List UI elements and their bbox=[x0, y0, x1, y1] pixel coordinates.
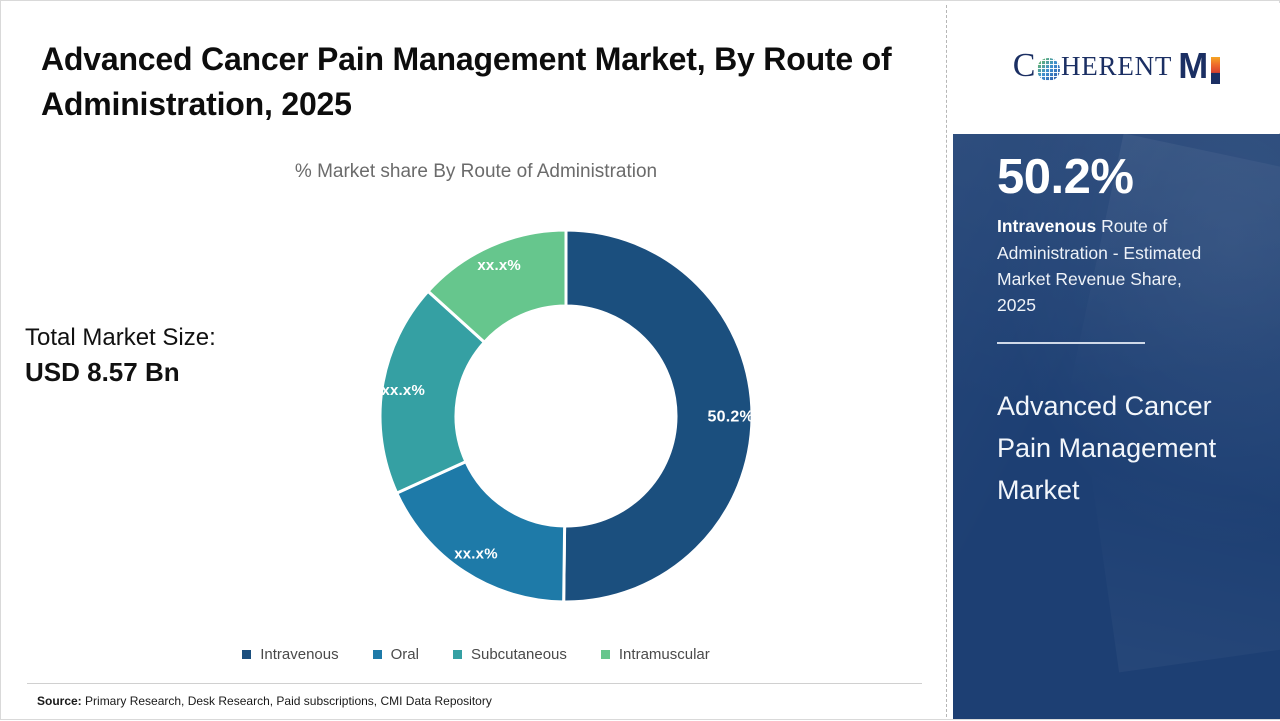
donut-slice-label: 50.2% bbox=[708, 409, 754, 426]
donut-chart-svg: 50.2%xx.x%xx.x%xx.x% bbox=[376, 226, 756, 606]
logo-text-herent: HERENT bbox=[1061, 53, 1172, 80]
source-note: Source: Primary Research, Desk Research,… bbox=[37, 694, 492, 708]
legend-swatch-icon bbox=[242, 650, 251, 659]
source-divider bbox=[27, 683, 922, 684]
coherentmi-logo: C HERENT M bbox=[1013, 48, 1220, 84]
logo-text-m: M bbox=[1178, 48, 1208, 84]
side-stat-panel-inner: 50.2% Intravenous Route of Administratio… bbox=[953, 134, 1280, 511]
panel-horizontal-rule bbox=[997, 342, 1145, 344]
total-market-size: Total Market Size: USD 8.57 Bn bbox=[25, 323, 325, 390]
infographic-canvas: Advanced Cancer Pain Management Market, … bbox=[0, 0, 1280, 720]
legend-swatch-icon bbox=[601, 650, 610, 659]
legend-label: Subcutaneous bbox=[471, 646, 567, 663]
left-content-pane: Advanced Cancer Pain Management Market, … bbox=[1, 1, 946, 721]
legend-item[interactable]: Oral bbox=[373, 646, 419, 663]
legend-swatch-icon bbox=[373, 650, 382, 659]
panel-market-name: Advanced Cancer Pain Management Market bbox=[997, 386, 1227, 512]
source-text: Primary Research, Desk Research, Paid su… bbox=[82, 694, 492, 708]
legend-label: Intramuscular bbox=[619, 646, 710, 663]
total-market-size-label: Total Market Size: bbox=[25, 323, 325, 354]
stat-value: 50.2% bbox=[997, 152, 1240, 203]
legend-label: Intravenous bbox=[260, 646, 338, 663]
stat-highlight: Intravenous bbox=[997, 216, 1096, 236]
vertical-dashed-divider bbox=[946, 5, 947, 717]
legend-item[interactable]: Intravenous bbox=[242, 646, 338, 663]
logo-text-mi: M bbox=[1178, 48, 1220, 84]
chart-legend: IntravenousOralSubcutaneousIntramuscular bbox=[41, 646, 911, 663]
globe-grid-icon bbox=[1037, 58, 1060, 81]
logo-text-c: C bbox=[1013, 49, 1036, 83]
total-market-size-value: USD 8.57 Bn bbox=[25, 356, 325, 390]
legend-item[interactable]: Intramuscular bbox=[601, 646, 710, 663]
logo-i-bar-icon bbox=[1211, 57, 1220, 84]
page-title: Advanced Cancer Pain Management Market, … bbox=[41, 37, 911, 128]
legend-swatch-icon bbox=[453, 650, 462, 659]
legend-label: Oral bbox=[391, 646, 419, 663]
donut-slice-label: xx.x% bbox=[477, 257, 521, 274]
source-label: Source: bbox=[37, 694, 82, 708]
donut-slice-label: xx.x% bbox=[381, 382, 425, 399]
chart-subtitle: % Market share By Route of Administratio… bbox=[41, 161, 911, 183]
donut-chart: 50.2%xx.x%xx.x%xx.x% bbox=[376, 226, 756, 606]
brand-logo-box: C HERENT M bbox=[953, 3, 1280, 133]
stat-description: Intravenous Route of Administration - Es… bbox=[997, 213, 1212, 318]
side-stat-panel: 50.2% Intravenous Route of Administratio… bbox=[953, 134, 1280, 719]
legend-item[interactable]: Subcutaneous bbox=[453, 646, 567, 663]
donut-slice-label: xx.x% bbox=[454, 545, 498, 562]
